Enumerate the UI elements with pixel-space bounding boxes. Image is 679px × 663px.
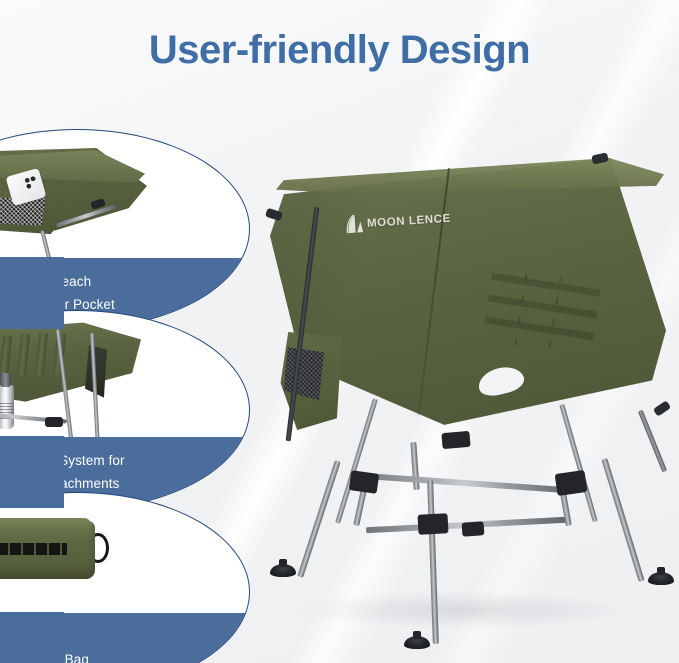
chair-leg-front-left bbox=[297, 460, 340, 578]
chair-leg-front-right bbox=[601, 458, 644, 582]
page-title: User-friendly Design bbox=[0, 28, 679, 73]
chair-frame-hub bbox=[555, 470, 588, 496]
chair-frame-hub bbox=[462, 521, 485, 537]
chair-back-pole-right bbox=[638, 409, 667, 472]
feature-photo-organizer-pocket bbox=[0, 130, 250, 270]
chair-frame-hub bbox=[45, 417, 63, 427]
hero-product-image: MOON LENCE bbox=[262, 150, 674, 650]
feature-banner-bleed bbox=[0, 436, 64, 508]
tent-mountain-icon bbox=[346, 214, 364, 234]
brand-logo-text: MOON LENCE bbox=[367, 212, 452, 229]
carrying-bag-lid bbox=[0, 518, 91, 530]
chair-frame-hub bbox=[417, 513, 448, 535]
carrying-bag-webbing bbox=[0, 543, 67, 555]
hanging-lantern bbox=[0, 385, 14, 429]
chair-corner-tab bbox=[653, 400, 671, 416]
chair-foot bbox=[404, 636, 430, 649]
chair-foot bbox=[648, 572, 674, 585]
chair-frame-hub bbox=[349, 470, 380, 494]
chair-frame-hub bbox=[441, 431, 470, 449]
chair-cross-pole bbox=[410, 442, 419, 490]
feature-banner-bleed bbox=[0, 257, 64, 329]
feature-photo-molle-system bbox=[0, 311, 250, 451]
feature-banner-bleed bbox=[0, 612, 64, 663]
chair-ground-shadow bbox=[292, 590, 642, 630]
chair-foot bbox=[270, 564, 296, 577]
chair-base-rail-top bbox=[354, 472, 576, 493]
